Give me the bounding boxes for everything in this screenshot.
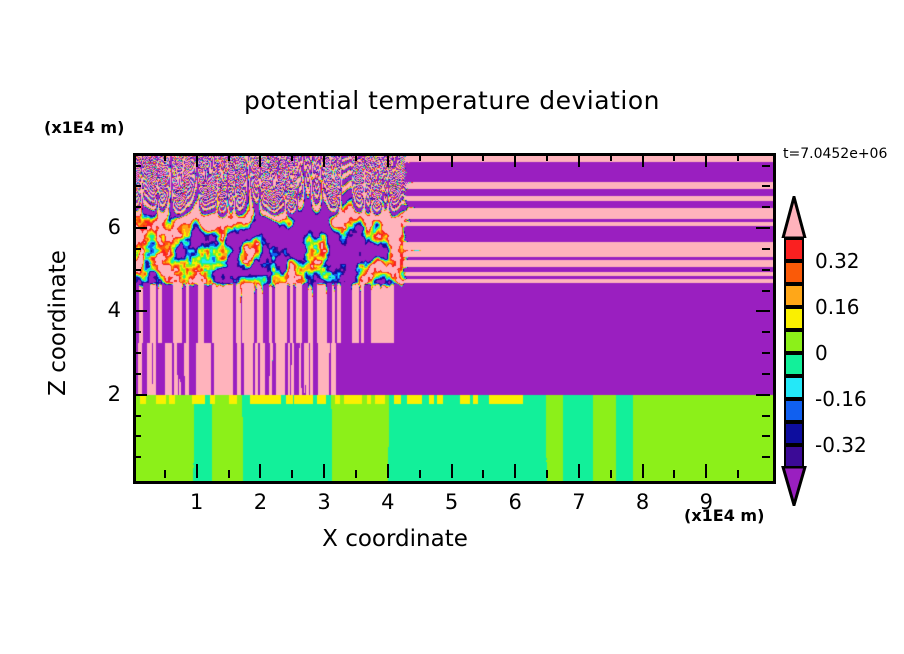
colorbar-band [784,330,804,353]
x-tick-minor [355,470,357,478]
y-tick-minor [762,415,770,417]
x-tick-minor [482,153,484,161]
x-axis-label: X coordinate [0,526,790,552]
y-tick-minor [133,248,141,250]
x-tick-label: 2 [240,490,280,514]
colorbar-tick-label: -0.16 [815,387,867,411]
x-tick-major-top [578,153,580,167]
y-tick-label: 4 [81,298,121,322]
y-tick-minor [762,290,770,292]
x-tick-major [259,464,261,478]
colorbar-band [784,284,804,307]
x-tick-minor [737,470,739,478]
x-tick-minor [291,153,293,161]
y-tick-major [133,394,147,396]
figure-canvas: potential temperature deviation (x1E4 m)… [0,0,904,654]
y-tick-minor [133,456,141,458]
y-tick-minor [133,331,141,333]
colorbar-tick-label: -0.32 [815,433,867,457]
x-tick-minor [419,153,421,161]
colorbar-over-arrow [781,196,807,238]
temperature-deviation-field [136,156,773,481]
x-tick-major-top [642,153,644,167]
y-tick-minor [133,206,141,208]
y-tick-minor [762,248,770,250]
y-tick-minor [133,415,141,417]
colorbar-band [784,399,804,422]
x-tick-minor [737,153,739,161]
y-tick-minor [133,435,141,437]
x-tick-minor [164,470,166,478]
colorbar-tick-label: 0 [815,341,828,365]
y-tick-minor [762,185,770,187]
y-tick-minor [133,269,141,271]
colorbar-band [784,238,804,261]
y-tick-minor [133,185,141,187]
colorbar-tick-label: 0.32 [815,249,860,273]
y-tick-major [133,227,147,229]
y-axis-label: Z coordinate [45,203,71,443]
x-tick-major [323,464,325,478]
x-tick-minor [610,470,612,478]
colorbar-band [784,445,804,468]
x-tick-minor [164,153,166,161]
y-tick-minor [762,435,770,437]
x-tick-major [196,464,198,478]
x-tick-label: 1 [177,490,217,514]
colorbar-band [784,422,804,445]
x-tick-major-top [387,153,389,167]
y-tick-minor [133,165,141,167]
colorbar-tick-label: 0.16 [815,295,860,319]
y-tick-minor [762,165,770,167]
colorbar-band [784,261,804,284]
y-tick-major [756,227,770,229]
y-tick-minor [762,331,770,333]
x-tick-minor [546,153,548,161]
y-tick-minor [762,269,770,271]
x-tick-major [642,464,644,478]
y-tick-minor [133,373,141,375]
x-tick-minor [673,153,675,161]
x-tick-major [578,464,580,478]
x-tick-minor [673,470,675,478]
chart-title: potential temperature deviation [0,86,904,115]
y-tick-minor [133,290,141,292]
x-tick-major [387,464,389,478]
y-tick-label: 6 [81,215,121,239]
x-tick-label: 7 [559,490,599,514]
x-tick-label: 6 [495,490,535,514]
x-tick-minor [291,470,293,478]
x-tick-major-top [514,153,516,167]
colorbar-under-arrow [781,466,807,506]
x-tick-major [705,464,707,478]
x-tick-minor [228,470,230,478]
y-axis-unit-label: (x1E4 m) [44,118,124,137]
y-tick-major [756,310,770,312]
x-tick-minor [355,153,357,161]
y-tick-minor [762,373,770,375]
x-tick-major-top [196,153,198,167]
x-tick-minor [419,470,421,478]
x-tick-label: 4 [368,490,408,514]
colorbar-band [784,376,804,399]
x-axis-unit-label: (x1E4 m) [684,506,764,525]
y-tick-minor [762,206,770,208]
x-tick-label: 3 [304,490,344,514]
x-tick-minor [482,470,484,478]
x-tick-major-top [451,153,453,167]
colorbar-band [784,353,804,376]
x-tick-major [451,464,453,478]
y-tick-minor [762,352,770,354]
y-tick-minor [762,456,770,458]
y-tick-major [756,394,770,396]
x-tick-major-top [259,153,261,167]
y-tick-label: 2 [81,382,121,406]
x-tick-minor [546,470,548,478]
y-tick-major [133,310,147,312]
colorbar-band [784,307,804,330]
x-tick-minor [228,153,230,161]
x-tick-major [514,464,516,478]
x-tick-major-top [705,153,707,167]
timestamp-annotation: t=7.0452e+06 [783,146,887,162]
x-tick-major-top [323,153,325,167]
x-tick-label: 8 [623,490,663,514]
x-tick-label: 5 [432,490,472,514]
colorbar: 0.320.160-0.16-0.32 [781,196,807,510]
contour-plot-area [133,153,776,484]
x-tick-minor [610,153,612,161]
y-tick-minor [133,352,141,354]
